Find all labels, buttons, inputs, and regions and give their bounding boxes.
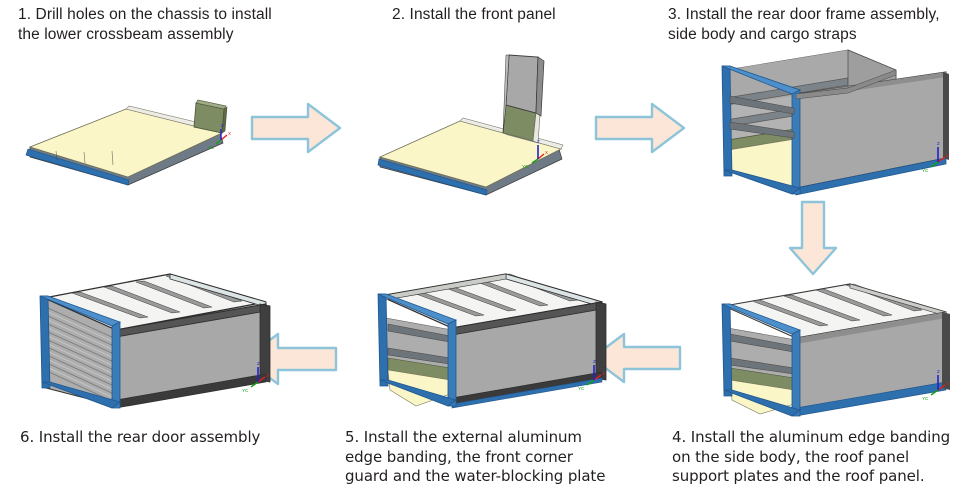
svg-text:YC: YC <box>922 396 929 401</box>
svg-text:YC: YC <box>242 388 249 393</box>
step-5-figure: Z X YC <box>352 256 620 408</box>
svg-text:X: X <box>946 381 949 386</box>
step-6-figure: Z X YC <box>22 256 282 408</box>
svg-text:X: X <box>602 371 605 376</box>
svg-text:X: X <box>266 373 269 378</box>
step-3-caption: 3. Install the rear door frame assembly,… <box>668 5 968 45</box>
step-2-figure: Z X YC <box>378 55 588 195</box>
step-6-caption: 6. Install the rear door assembly <box>20 428 320 448</box>
step-2-caption: 2. Install the front panel <box>392 5 662 25</box>
svg-text:Z: Z <box>937 141 940 146</box>
svg-text:Z: Z <box>257 361 260 366</box>
step-3-figure: Z X YC <box>700 48 968 196</box>
assembly-sequence-diagram: 1. Drill holes on the chassis to install… <box>0 0 980 500</box>
step-5-caption: 5. Install the external aluminum edge ba… <box>345 428 645 487</box>
svg-text:Z: Z <box>937 369 940 374</box>
step-4-caption: 4. Install the aluminum edge banding on … <box>672 428 972 487</box>
svg-text:X: X <box>946 153 949 158</box>
svg-text:YC: YC <box>208 145 215 150</box>
arrow-step2-to-step3 <box>592 100 688 156</box>
svg-text:Z: Z <box>537 139 540 144</box>
svg-text:YC: YC <box>922 168 929 173</box>
svg-text:Z: Z <box>221 123 224 128</box>
svg-text:YC: YC <box>522 164 529 169</box>
step-1-figure: Z X YC <box>8 85 248 190</box>
svg-text:YC: YC <box>578 386 585 391</box>
svg-text:X: X <box>228 131 231 136</box>
arrow-step1-to-step2 <box>248 100 344 156</box>
svg-text:Z: Z <box>593 359 596 364</box>
step-4-figure: Z X YC <box>700 268 968 416</box>
svg-text:X: X <box>545 150 548 155</box>
arrow-step3-to-step4 <box>784 198 842 278</box>
step-1-caption: 1. Drill holes on the chassis to install… <box>18 5 318 45</box>
